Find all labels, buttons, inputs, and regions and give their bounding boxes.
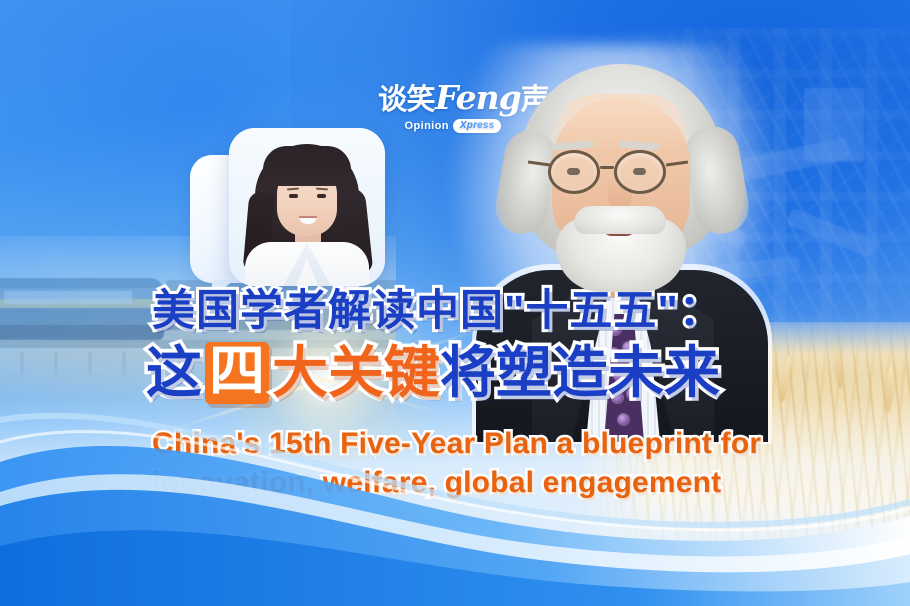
- robot-arm: [786, 207, 878, 258]
- headline-seg-1: 这: [146, 342, 202, 404]
- bottom-wave-decoration: [0, 396, 910, 606]
- headline-line-1: 美国学者解读中国"十五五"：: [0, 286, 910, 336]
- glasses-lens-right-icon: [614, 150, 666, 194]
- speech-bubble-front: [229, 128, 385, 286]
- host-fringe: [263, 146, 351, 186]
- logo-tagline-word: Opinion: [405, 120, 449, 132]
- glasses-bridge-icon: [600, 166, 614, 169]
- headline-line-2: 这 四 大关键 将塑造未来: [0, 342, 910, 404]
- headline-block: 美国学者解读中国"十五五"： 这 四 大关键 将塑造未来: [0, 286, 910, 404]
- headline-seg-2-highlight: 四: [205, 342, 269, 404]
- banner-poster: 谈笑Feng声 Opinion Xpress: [0, 0, 910, 606]
- host-portrait: [229, 128, 385, 286]
- host-eye: [289, 194, 298, 198]
- logo-cn-left: 谈笑: [378, 84, 435, 116]
- host-eye: [317, 194, 326, 198]
- glasses-lens-left-icon: [548, 150, 600, 194]
- guest-moustache: [574, 206, 666, 234]
- headline-seg-3: 大关键: [272, 342, 440, 404]
- host-portrait-frame: [229, 128, 385, 286]
- headline-seg-4: 将塑造未来: [440, 342, 720, 404]
